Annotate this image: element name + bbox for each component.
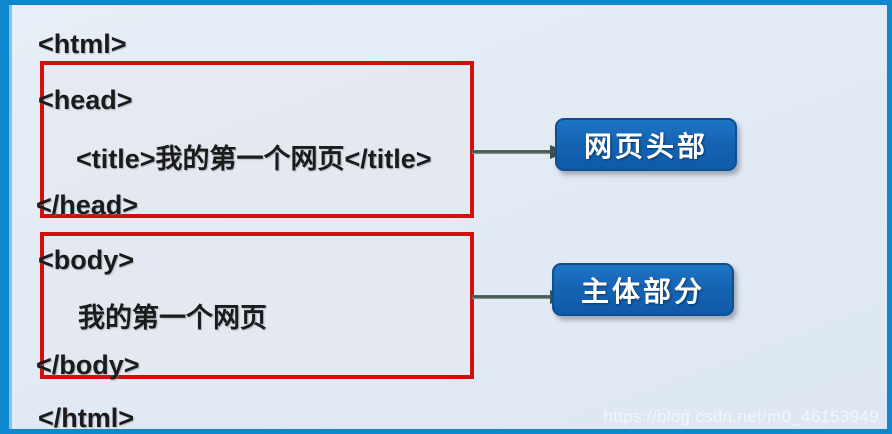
watermark-text: https://blog.csdn.net/m0_46153949	[604, 407, 879, 427]
callout-head-label: 网页头部	[555, 118, 737, 171]
head-callout-arrow	[472, 137, 568, 167]
code-line-head-close: </head>	[36, 190, 138, 221]
code-line-html-open: <html>	[38, 29, 127, 60]
callout-body-label: 主体部分	[552, 263, 734, 316]
code-line-title: <title>我的第一个网页</title>	[76, 137, 432, 176]
code-line-html-close: </html>	[38, 403, 134, 429]
slide-canvas: <html> <head> <title>我的第一个网页</title> </h…	[9, 5, 887, 429]
code-line-body-open: <body>	[38, 245, 134, 276]
slide-frame: <html> <head> <title>我的第一个网页</title> </h…	[0, 0, 892, 434]
callout-body-text: 主体部分	[581, 270, 705, 310]
callout-head-text: 网页头部	[584, 125, 708, 165]
code-line-body-close: </body>	[36, 350, 140, 381]
code-line-body-content: 我的第一个网页	[78, 296, 267, 335]
arrow-right-icon	[472, 137, 568, 167]
code-line-head-open: <head>	[38, 85, 133, 116]
